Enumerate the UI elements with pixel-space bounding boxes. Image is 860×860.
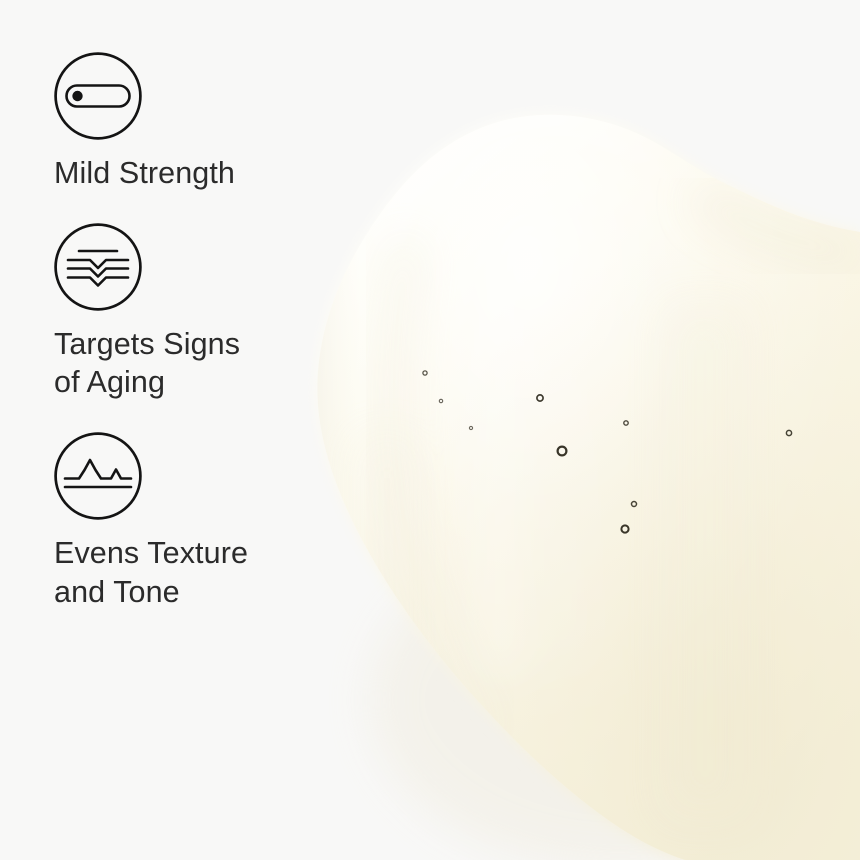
bubble <box>621 525 628 532</box>
evens-texture-and-tone-icon <box>54 432 142 520</box>
benefit-label: Mild Strength <box>54 154 354 193</box>
bubble <box>632 502 637 507</box>
blob-shadow <box>370 530 860 860</box>
benefit-item-evens-texture-and-tone: Evens Texture and Tone <box>54 432 354 611</box>
benefit-label: Targets Signs of Aging <box>54 325 354 402</box>
bubble <box>469 426 472 429</box>
benefit-list: Mild Strength Targets Signs of Aging Eve… <box>54 52 354 642</box>
blob-shading <box>300 90 860 860</box>
benefit-label: Evens Texture and Tone <box>54 534 354 611</box>
benefit-item-targets-signs-of-aging: Targets Signs of Aging <box>54 223 354 402</box>
bubble <box>624 421 628 425</box>
blob-body <box>317 115 860 860</box>
blob-bubbles <box>423 371 792 533</box>
bubble <box>439 399 442 402</box>
targets-signs-of-aging-icon <box>54 223 142 311</box>
mild-strength-icon <box>54 52 142 140</box>
bubble <box>558 447 567 456</box>
bubble <box>423 371 427 375</box>
benefits-graphic: Mild Strength Targets Signs of Aging Eve… <box>0 0 860 860</box>
bubble <box>786 430 791 435</box>
benefit-item-mild-strength: Mild Strength <box>54 52 354 193</box>
bubble <box>537 395 543 401</box>
